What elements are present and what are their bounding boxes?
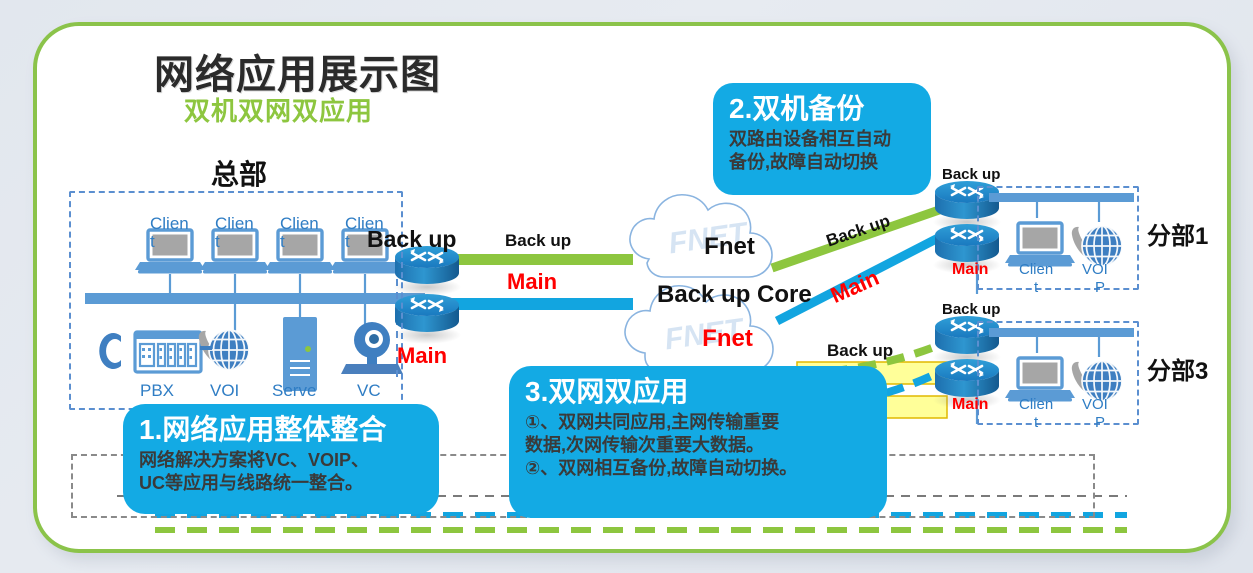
- callout-3-body-line1: ①、双网共同应用,主网传输重要: [525, 411, 871, 434]
- callout-2[interactable]: 2.双机备份 双路由设备相互自动 备份,故障自动切换: [713, 83, 931, 195]
- branch1-boundary-box: [977, 186, 1139, 290]
- hq-voip-label: VOI: [210, 381, 239, 401]
- callout-3-heading: 3.双网双应用: [525, 376, 871, 407]
- callout-2-heading: 2.双机备份: [729, 93, 915, 124]
- callout-1-heading: 1.网络应用整体整合: [139, 414, 423, 445]
- cloud-main-core-line1: Fnet: [702, 325, 753, 352]
- branch3-client-label-wrap: t: [1034, 414, 1038, 431]
- hq-client-1-label-wrap: t: [150, 232, 155, 252]
- hq-pbx-label: PBX: [140, 381, 174, 401]
- hq-client-2-label-wrap: t: [215, 232, 220, 252]
- trunk-main-label: Main: [507, 269, 557, 295]
- branch3-router-main-label: Main: [952, 396, 988, 414]
- callout-3-body-line2: 数据,次网传输次重要大数据。: [525, 434, 871, 457]
- branch3-client-label: Clien: [1019, 396, 1053, 413]
- callout-1-body-line1: 网络解决方案将VC、VOIP、: [139, 449, 423, 472]
- callout-3[interactable]: 3.双网双应用 ①、双网共同应用,主网传输重要 数据,次网传输次重要大数据。 ②…: [509, 366, 887, 518]
- branch1-voip-label-wrap: P: [1095, 279, 1105, 296]
- branch3-title: 分部3: [1147, 351, 1208, 386]
- callout-1[interactable]: 1.网络应用整体整合 网络解决方案将VC、VOIP、 UC等应用与线路统一整合。: [123, 404, 439, 514]
- trunk-backup-label: Back up: [505, 231, 571, 251]
- branch1-router-main-label: Main: [952, 261, 988, 279]
- callout-2-body-line1: 双路由设备相互自动: [729, 128, 915, 151]
- diagram-canvas: FNET FNET: [0, 0, 1253, 573]
- hq-client-3-label-wrap: t: [280, 232, 285, 252]
- branch1-router-backup-label: Back up: [942, 166, 1000, 183]
- callout-2-body-line2: 备份,故障自动切换: [729, 151, 915, 174]
- branch3-voip-label-wrap: P: [1095, 414, 1105, 431]
- hq-router-backup-label: Back up: [367, 226, 456, 253]
- branch1-client-label-wrap: t: [1034, 279, 1038, 296]
- hq-client-3-label: Clien: [280, 214, 319, 234]
- hq-server-label: Serve: [272, 381, 316, 401]
- branch1-voip-label: VOI: [1082, 261, 1108, 278]
- hq-vc-label: VC: [357, 381, 381, 401]
- hq-client-1-label: Clien: [150, 214, 189, 234]
- page-subtitle: 双机双网双应用: [184, 91, 373, 128]
- branch3-router-backup-label: Back up: [942, 301, 1000, 318]
- branch3-voip-label: VOI: [1082, 396, 1108, 413]
- hq-client-2-label: Clien: [215, 214, 254, 234]
- branch1-client-label: Clien: [1019, 261, 1053, 278]
- hq-router-main-label: Main: [397, 343, 447, 369]
- branch3-boundary-box: [977, 321, 1139, 425]
- branch3-backup-label: Back up: [827, 341, 893, 361]
- hq-client-4-label-wrap: t: [345, 232, 350, 252]
- diagram-frame: FNET FNET: [33, 22, 1231, 553]
- branch1-title: 分部1: [1147, 216, 1208, 251]
- hq-title: 总部: [211, 153, 267, 193]
- cloud-backup-core-line1: Fnet: [704, 233, 755, 260]
- callout-3-body-line3: ②、双网相互备份,故障自动切换。: [525, 457, 871, 480]
- callout-1-body-line2: UC等应用与线路统一整合。: [139, 472, 423, 495]
